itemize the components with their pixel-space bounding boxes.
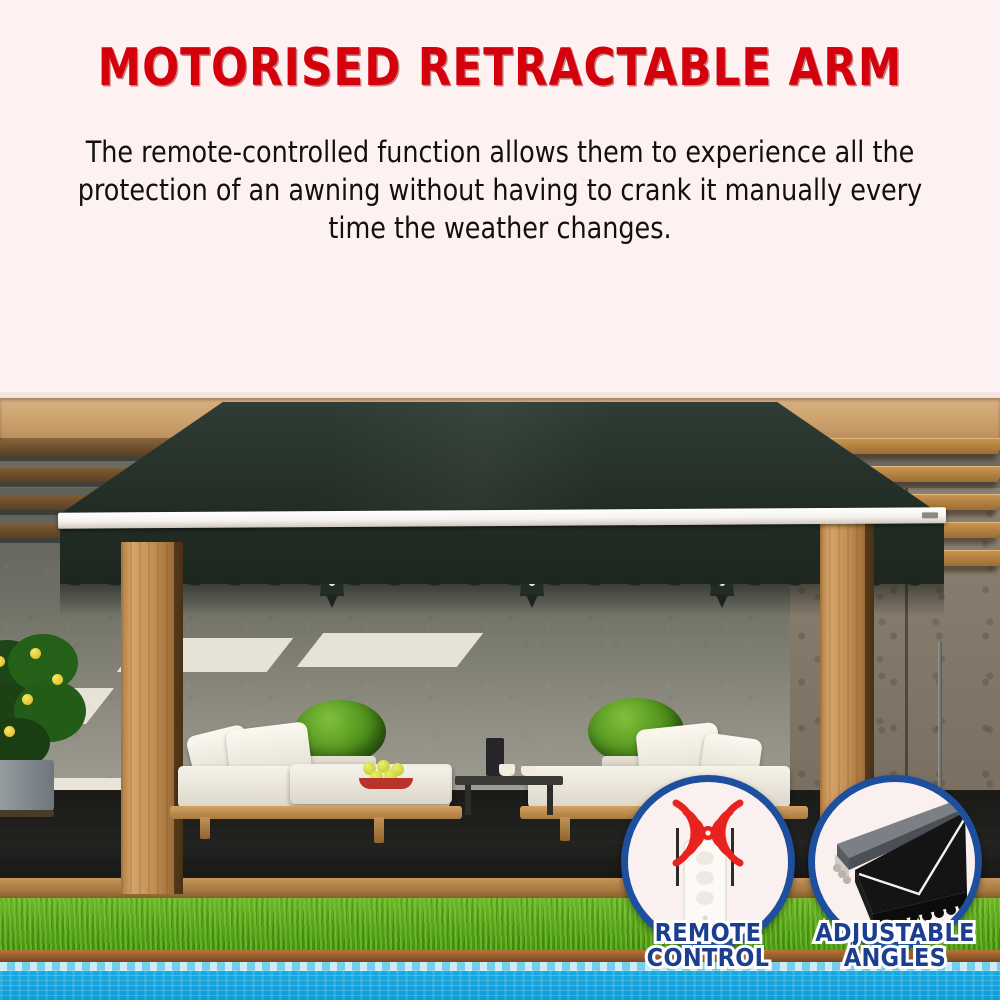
lemon-tree [0,630,95,775]
cup [499,764,515,776]
awning-scalloped-edge [60,571,944,597]
page-description: The remote-controlled function allows th… [78,133,923,247]
page-title: MOTORISED RETRACTABLE ARM [35,38,965,98]
tree-planter [0,760,54,812]
badge-label-line1: ADJUSTABLE [785,920,1000,945]
lounger-leg [200,817,210,839]
feature-badge-remote-control[interactable]: REMOTE CONTROL [613,775,803,975]
side-table [455,774,565,822]
header-panel: MOTORISED RETRACTABLE ARM The remote-con… [0,0,1000,392]
table-top [455,776,563,785]
product-feature-poster: MOTORISED RETRACTABLE ARM The remote-con… [0,0,1000,1000]
badge-label-line2: ANGLES [785,945,1000,970]
table-leg [465,785,471,815]
awning-end-cap [922,512,938,518]
lounger-frame [170,806,462,819]
lemon-fruit [22,694,33,705]
lemon-fruit [52,674,63,685]
lemon-fruit [4,726,15,737]
lounger-leg [374,817,384,843]
fruit-bowl [355,760,425,792]
table-leg [547,785,553,815]
feature-badge-adjustable-angles[interactable]: ADJUSTABLE ANGLES [800,775,990,975]
bowl [359,778,413,789]
lemon-fruit [30,648,41,659]
cup [521,766,535,776]
wall-light-patch [297,633,484,667]
lounger-left [170,722,470,842]
awning-valance [60,522,944,584]
